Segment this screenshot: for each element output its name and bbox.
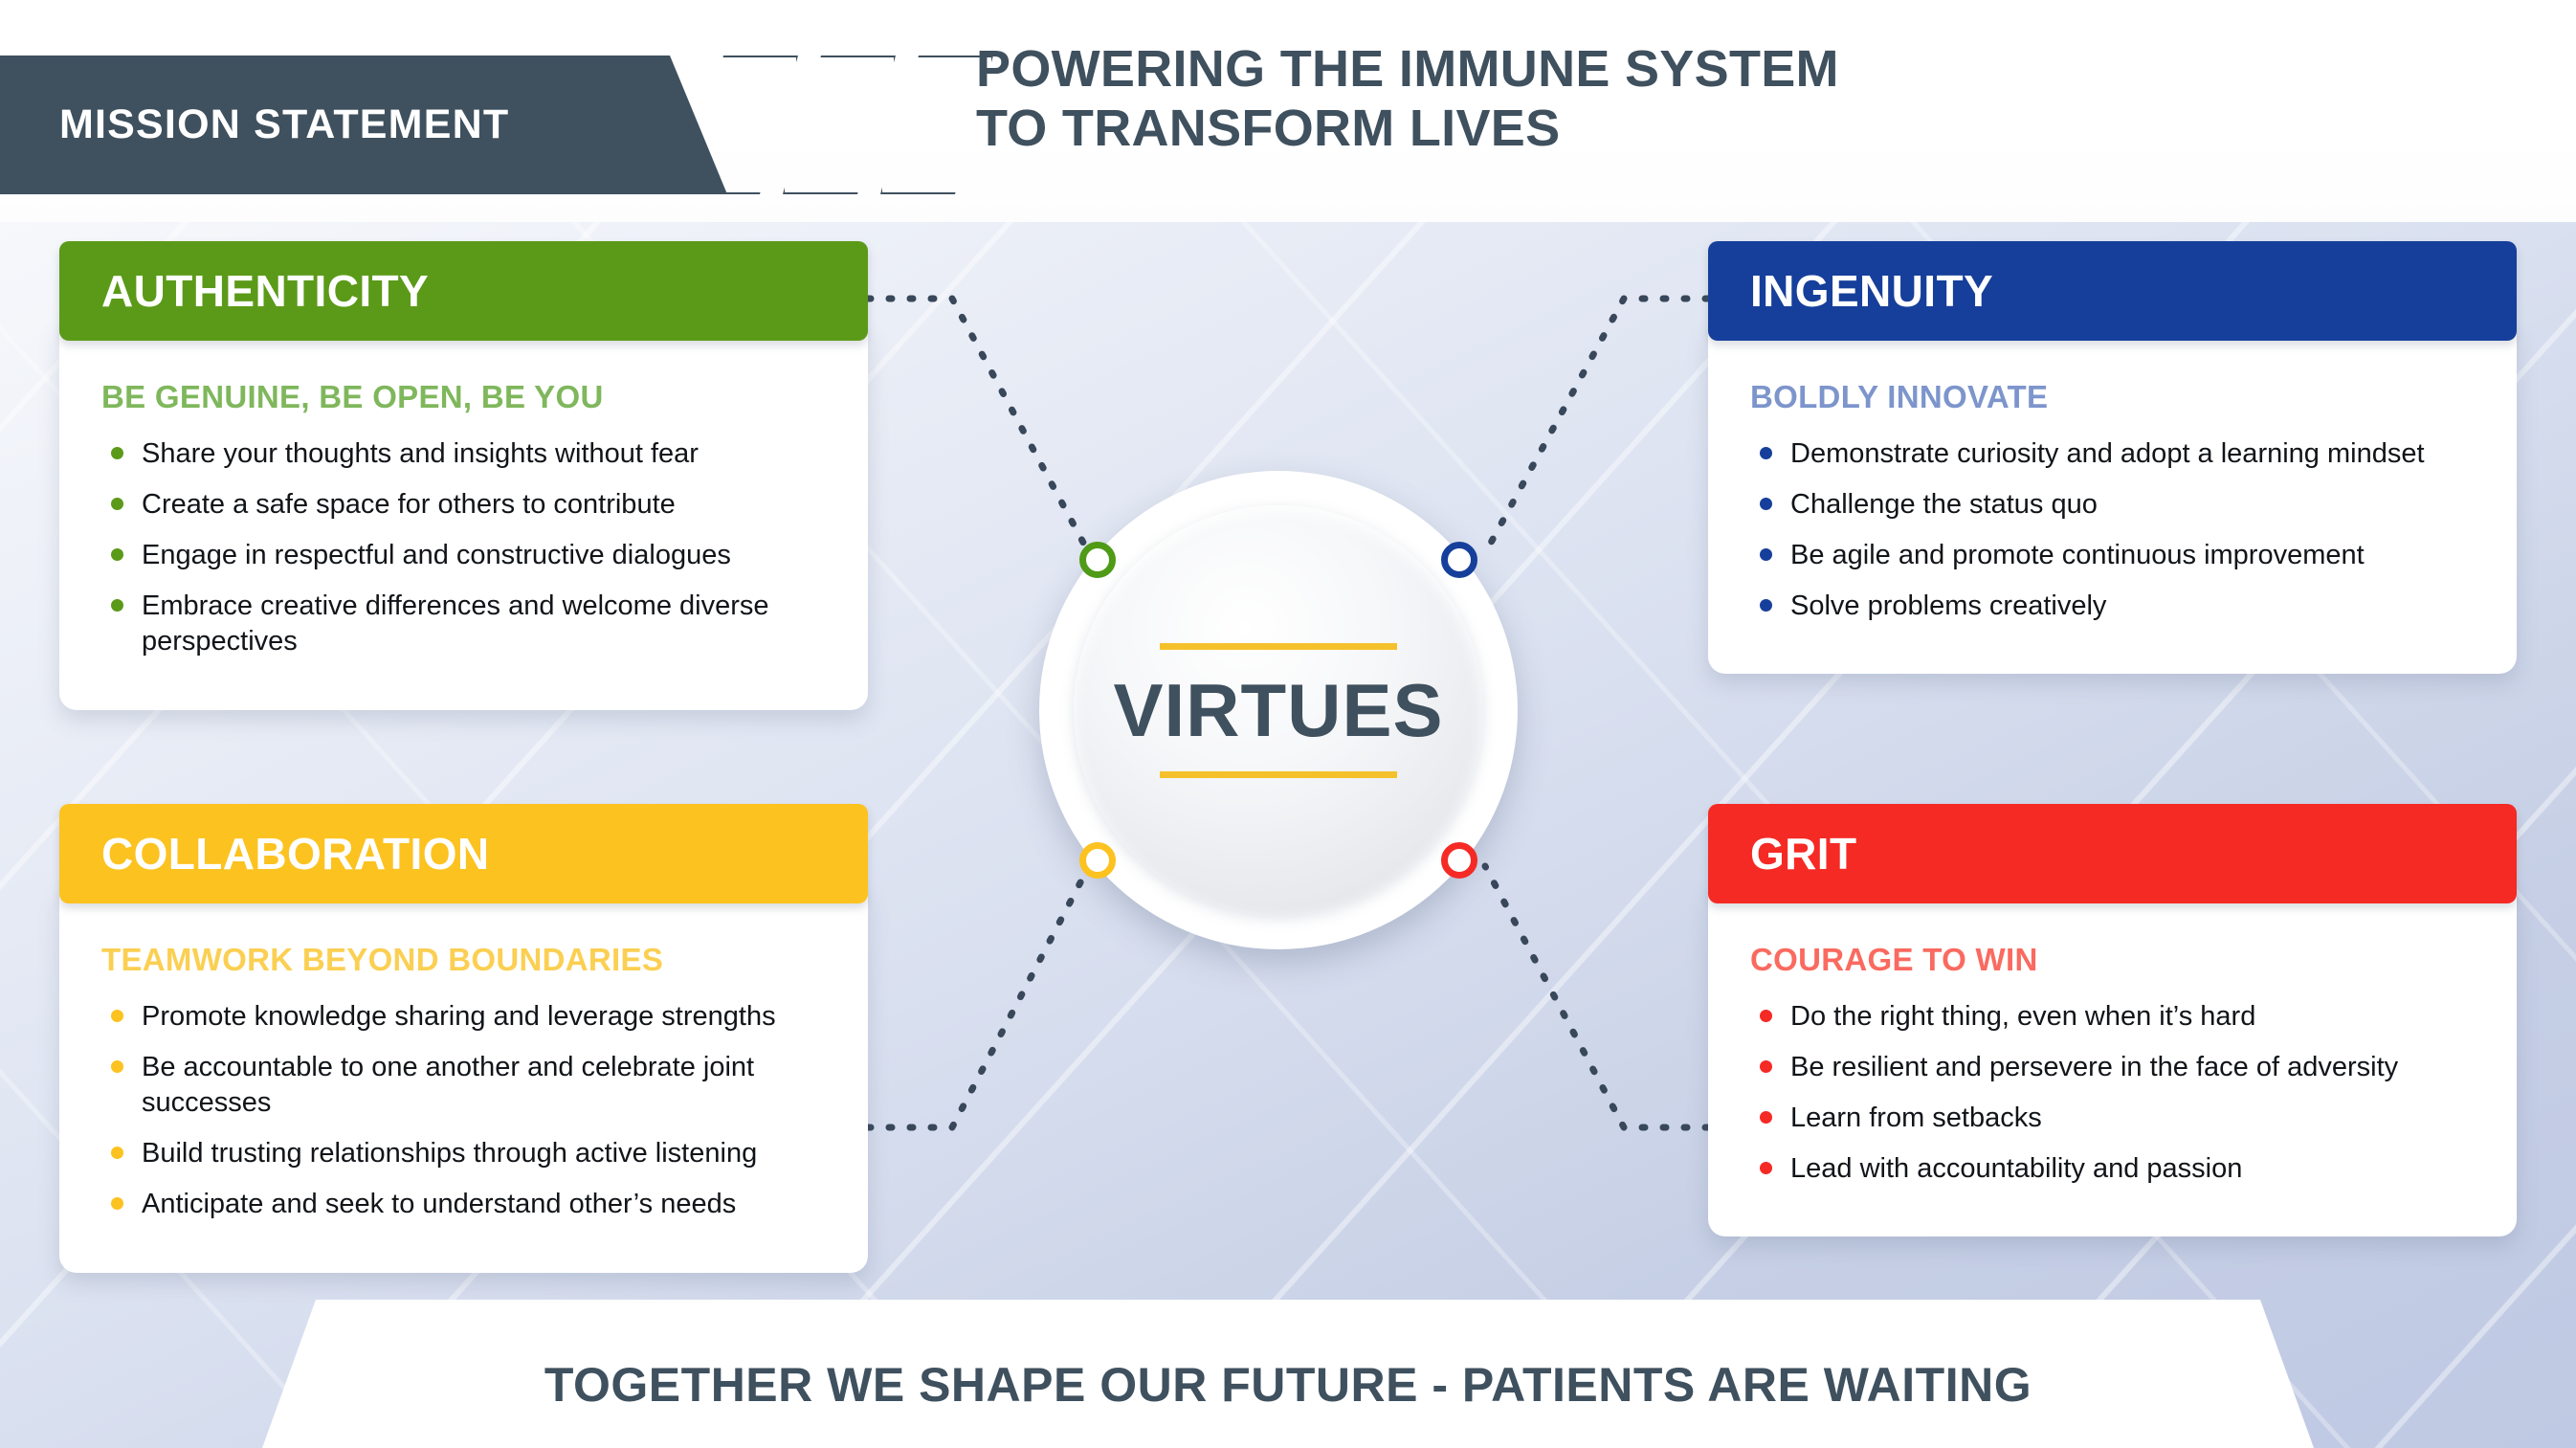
list-item: Promote knowledge sharing and leverage s… bbox=[101, 999, 830, 1035]
page-title-line-2: TO TRANSFORM LIVES bbox=[976, 100, 2364, 159]
virtues-rule-top bbox=[1160, 643, 1397, 650]
collaboration-node[interactable] bbox=[1079, 842, 1116, 879]
card-collaboration-body: TEAMWORK BEYOND BOUNDARIES Promote knowl… bbox=[59, 890, 868, 1273]
card-authenticity-title: AUTHENTICITY bbox=[59, 265, 429, 317]
list-item: Learn from setbacks bbox=[1750, 1101, 2478, 1136]
card-ingenuity-subtitle: BOLDLY INNOVATE bbox=[1750, 379, 2478, 415]
list-item: Lead with accountability and passion bbox=[1750, 1151, 2478, 1187]
card-ingenuity-header: INGENUITY bbox=[1708, 241, 2517, 341]
card-authenticity-body: BE GENUINE, BE OPEN, BE YOU Share your t… bbox=[59, 327, 868, 710]
card-authenticity-subtitle: BE GENUINE, BE OPEN, BE YOU bbox=[101, 379, 830, 415]
infographic-canvas: MISSION STATEMENT POWERING THE IMMUNE SY… bbox=[0, 0, 2576, 1448]
virtues-rule-bottom bbox=[1160, 771, 1397, 778]
page-title-line-1: POWERING THE IMMUNE SYSTEM bbox=[976, 40, 2364, 100]
card-authenticity[interactable]: AUTHENTICITY BE GENUINE, BE OPEN, BE YOU… bbox=[59, 241, 868, 710]
list-item: Engage in respectful and constructive di… bbox=[101, 538, 830, 573]
card-collaboration-subtitle: TEAMWORK BEYOND BOUNDARIES bbox=[101, 942, 830, 978]
page-title: POWERING THE IMMUNE SYSTEM TO TRANSFORM … bbox=[976, 40, 2364, 158]
card-grit-title: GRIT bbox=[1708, 828, 1856, 880]
card-grit[interactable]: GRIT COURAGE TO WIN Do the right thing, … bbox=[1708, 804, 2517, 1236]
card-grit-subtitle: COURAGE TO WIN bbox=[1750, 942, 2478, 978]
mission-statement-badge: MISSION STATEMENT bbox=[0, 56, 727, 194]
ingenuity-node[interactable] bbox=[1441, 542, 1477, 578]
mission-statement-label: MISSION STATEMENT bbox=[0, 101, 509, 148]
virtues-hub: VIRTUES bbox=[1039, 471, 1518, 949]
list-item: Be agile and promote continuous improvem… bbox=[1750, 538, 2478, 573]
card-grit-bullets: Do the right thing, even when it’s hard … bbox=[1750, 999, 2478, 1187]
card-authenticity-bullets: Share your thoughts and insights without… bbox=[101, 436, 830, 660]
card-grit-body: COURAGE TO WIN Do the right thing, even … bbox=[1708, 890, 2517, 1236]
list-item: Be accountable to one another and celebr… bbox=[101, 1050, 830, 1121]
footer-tagline: TOGETHER WE SHAPE OUR FUTURE - PATIENTS … bbox=[544, 1357, 2032, 1413]
card-collaboration[interactable]: COLLABORATION TEAMWORK BEYOND BOUNDARIES… bbox=[59, 804, 868, 1273]
authenticity-node[interactable] bbox=[1079, 542, 1116, 578]
card-ingenuity-body: BOLDLY INNOVATE Demonstrate curiosity an… bbox=[1708, 327, 2517, 674]
list-item: Solve problems creatively bbox=[1750, 589, 2478, 624]
card-ingenuity-title: INGENUITY bbox=[1708, 265, 1993, 317]
list-item: Challenge the status quo bbox=[1750, 487, 2478, 523]
list-item: Embrace creative differences and welcome… bbox=[101, 589, 830, 659]
list-item: Be resilient and persevere in the face o… bbox=[1750, 1050, 2478, 1085]
virtues-label: VIRTUES bbox=[1113, 667, 1443, 754]
grit-node[interactable] bbox=[1441, 842, 1477, 879]
card-ingenuity-bullets: Demonstrate curiosity and adopt a learni… bbox=[1750, 436, 2478, 624]
list-item: Build trusting relationships through act… bbox=[101, 1136, 830, 1171]
list-item: Anticipate and seek to understand other’… bbox=[101, 1187, 830, 1222]
connector-ingenuity bbox=[1485, 299, 1708, 553]
list-item: Share your thoughts and insights without… bbox=[101, 436, 830, 472]
virtues-inner-disc: VIRTUES bbox=[1074, 505, 1483, 915]
list-item: Do the right thing, even when it’s hard bbox=[1750, 999, 2478, 1035]
card-authenticity-header: AUTHENTICITY bbox=[59, 241, 868, 341]
card-grit-header: GRIT bbox=[1708, 804, 2517, 903]
list-item: Create a safe space for others to contri… bbox=[101, 487, 830, 523]
connector-grit bbox=[1485, 866, 1708, 1127]
card-ingenuity[interactable]: INGENUITY BOLDLY INNOVATE Demonstrate cu… bbox=[1708, 241, 2517, 674]
card-collaboration-title: COLLABORATION bbox=[59, 828, 490, 880]
footer-banner: TOGETHER WE SHAPE OUR FUTURE - PATIENTS … bbox=[0, 1300, 2576, 1448]
card-collaboration-bullets: Promote knowledge sharing and leverage s… bbox=[101, 999, 830, 1223]
card-collaboration-header: COLLABORATION bbox=[59, 804, 868, 903]
list-item: Demonstrate curiosity and adopt a learni… bbox=[1750, 436, 2478, 472]
